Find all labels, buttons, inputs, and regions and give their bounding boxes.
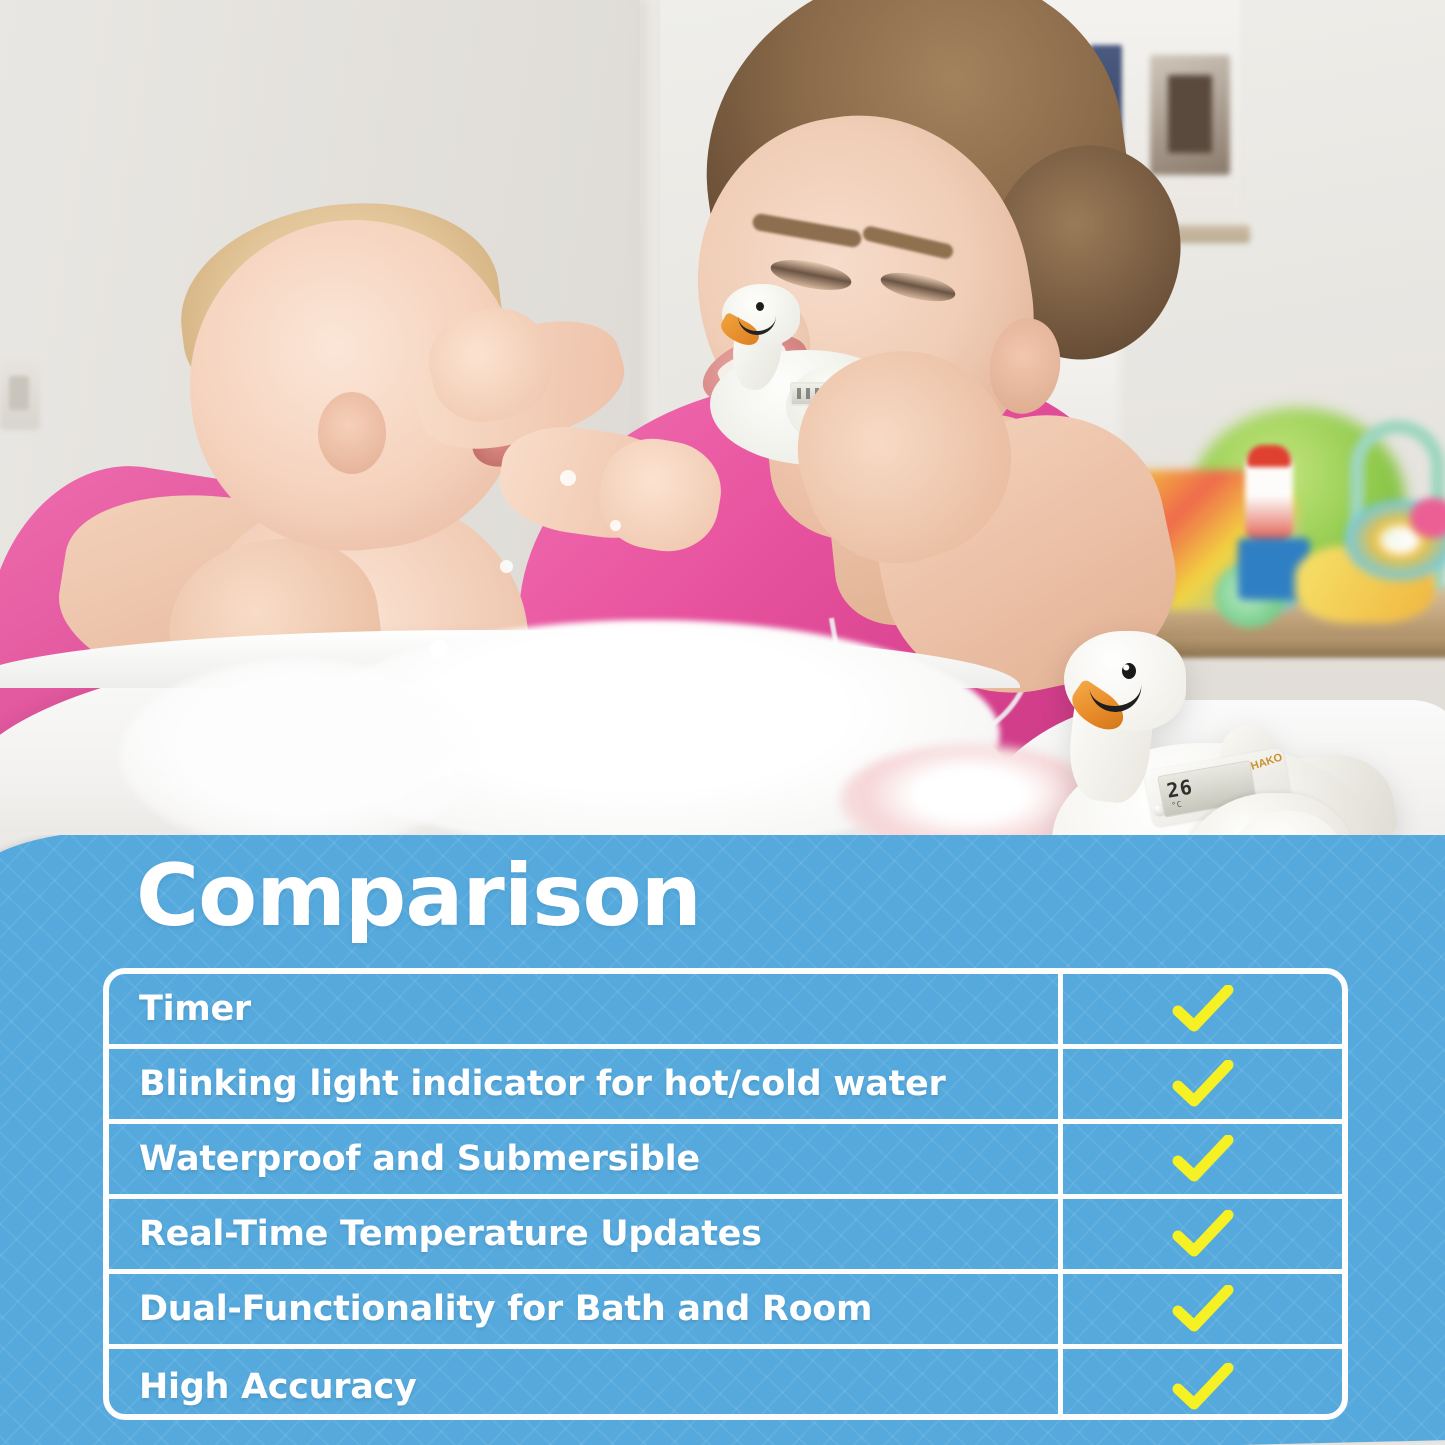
feature-label: Real-Time Temperature Updates xyxy=(139,1214,762,1254)
page-title: Comparison xyxy=(136,853,701,939)
check-icon xyxy=(1172,985,1234,1033)
comparison-panel: Comparison TimerBlinking light indicator… xyxy=(0,835,1445,1445)
swan-brand-mark: HAKO xyxy=(1249,751,1284,772)
feature-cell: Dual-Functionality for Bath and Room xyxy=(109,1274,1063,1344)
check-icon xyxy=(1172,1363,1234,1411)
swan-lcd-unit: °C xyxy=(1171,800,1183,811)
wall-outlet xyxy=(0,360,40,430)
mark-cell xyxy=(1063,1124,1342,1194)
feature-cell: Real-Time Temperature Updates xyxy=(109,1199,1063,1269)
table-row: Real-Time Temperature Updates xyxy=(109,1199,1342,1274)
check-icon xyxy=(1172,1285,1234,1333)
soap-bubble xyxy=(610,520,621,531)
feature-label: Dual-Functionality for Bath and Room xyxy=(139,1289,872,1329)
background-picture-frame xyxy=(1150,55,1230,175)
feature-cell: Waterproof and Submersible xyxy=(109,1124,1063,1194)
feature-label: Blinking light indicator for hot/cold wa… xyxy=(139,1064,945,1104)
soap-bubble xyxy=(560,470,576,486)
mark-cell xyxy=(1063,1349,1342,1420)
mark-cell xyxy=(1063,1049,1342,1119)
table-row: High Accuracy xyxy=(109,1349,1342,1420)
check-icon xyxy=(1172,1210,1234,1258)
soap-bubble xyxy=(430,640,448,658)
swan-lcd-value: 26 xyxy=(1165,777,1194,801)
feature-cell: High Accuracy xyxy=(109,1349,1063,1420)
baby-ear xyxy=(318,392,386,474)
toy-figurine-hat xyxy=(1247,445,1291,467)
lifestyle-photo: 26 °C HAKO xyxy=(0,0,1445,880)
mark-cell xyxy=(1063,1274,1342,1344)
check-icon xyxy=(1172,1060,1234,1108)
table-row: Timer xyxy=(109,974,1342,1049)
table-row: Dual-Functionality for Bath and Room xyxy=(109,1274,1342,1349)
mark-cell xyxy=(1063,974,1342,1044)
feature-label: Waterproof and Submersible xyxy=(139,1139,700,1179)
feature-label: High Accuracy xyxy=(139,1367,417,1407)
product-marketing-image: 26 °C HAKO Comparison TimerBlinking ligh… xyxy=(0,0,1445,1445)
feature-cell: Blinking light indicator for hot/cold wa… xyxy=(109,1049,1063,1119)
bath-foam-left xyxy=(120,660,480,850)
table-row: Waterproof and Submersible xyxy=(109,1124,1342,1199)
check-icon xyxy=(1172,1135,1234,1183)
soap-bubble xyxy=(500,560,513,573)
comparison-table: TimerBlinking light indicator for hot/co… xyxy=(103,968,1348,1420)
feature-cell: Timer xyxy=(109,974,1063,1044)
mark-cell xyxy=(1063,1199,1342,1269)
table-row: Blinking light indicator for hot/cold wa… xyxy=(109,1049,1342,1124)
feature-label: Timer xyxy=(139,989,251,1029)
swan-eye-small xyxy=(756,302,764,311)
swan-eye xyxy=(1122,663,1136,679)
